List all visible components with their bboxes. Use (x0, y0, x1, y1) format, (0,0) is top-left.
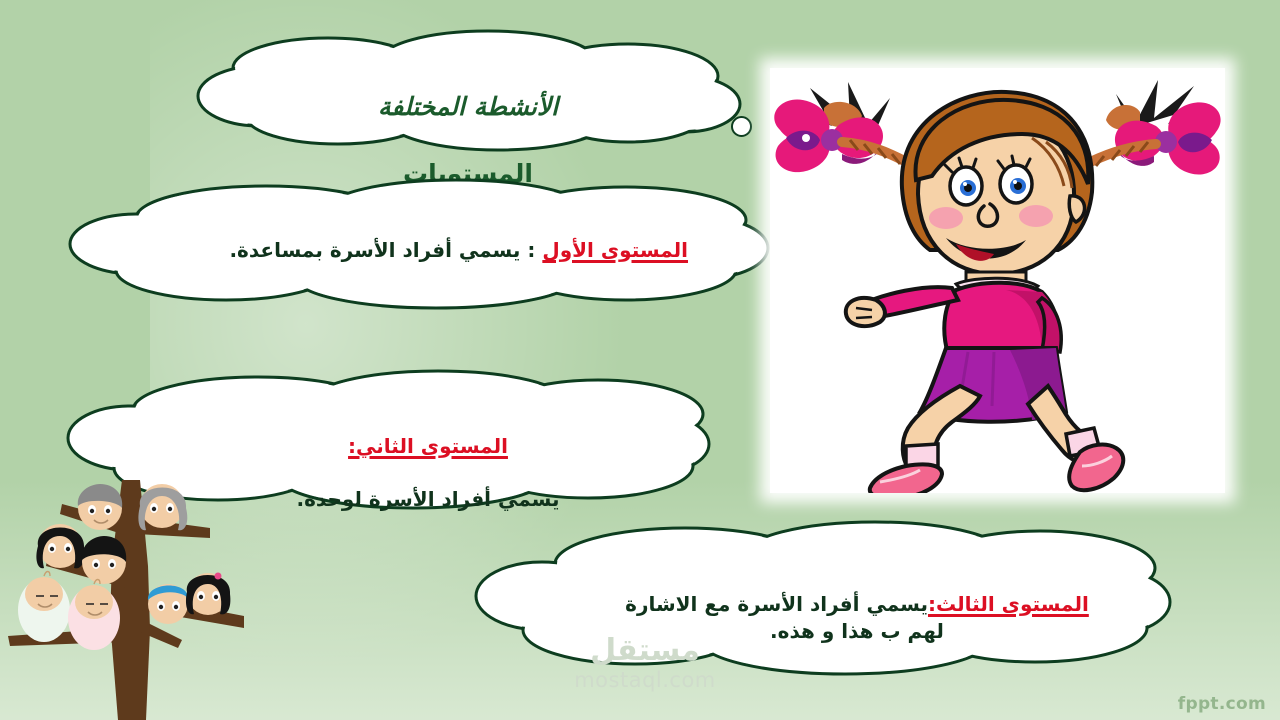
tree-member-mother (36, 524, 84, 568)
family-tree-illustration (0, 470, 265, 720)
level-three-heading: المستوى الثالث: (928, 592, 1089, 616)
level-two-body: يسمي أفراد الأسرة لوحده. (218, 486, 638, 513)
slide-canvas: الأنشطة المختلفة المستويات (0, 0, 1280, 720)
left-bow (774, 82, 910, 172)
title-line-1: الأنشطة المختلفة (198, 90, 738, 124)
level-three-text: المستوى الثالث:يسمي أفراد الأسرة مع الاش… (622, 564, 1092, 644)
cartoon-girl-image-panel (770, 68, 1225, 493)
family-tree-shape (0, 470, 265, 720)
tree-member-baby-one (18, 572, 70, 643)
level-three-body: يسمي أفراد الأسرة مع الاشارة لهم ب هذا و… (625, 592, 944, 643)
cartoon-girl-illustration (770, 68, 1225, 493)
thought-bubble-dot (731, 116, 752, 137)
level-two-heading: المستوى الثاني: (218, 433, 638, 460)
tree-member-father (82, 536, 126, 584)
level-three-cloud: المستوى الثالث:يسمي أفراد الأسرة مع الاش… (470, 516, 1170, 676)
level-one-body: : يسمي أفراد الأسرة بمساعدة. (229, 238, 542, 262)
level-one-text: المستوى الأول : يسمي أفراد الأسرة بمساعد… (218, 210, 688, 264)
title-cloud: الأنشطة المختلفة المستويات (198, 28, 738, 148)
right-bow (1082, 80, 1221, 174)
tree-member-grandfather (78, 484, 122, 530)
tree-member-girl (186, 573, 230, 616)
level-one-heading: المستوى الأول (542, 238, 688, 262)
fppt-watermark: fppt.com (1178, 694, 1266, 714)
level-one-cloud: المستوى الأول : يسمي أفراد الأسرة بمساعد… (66, 178, 766, 308)
